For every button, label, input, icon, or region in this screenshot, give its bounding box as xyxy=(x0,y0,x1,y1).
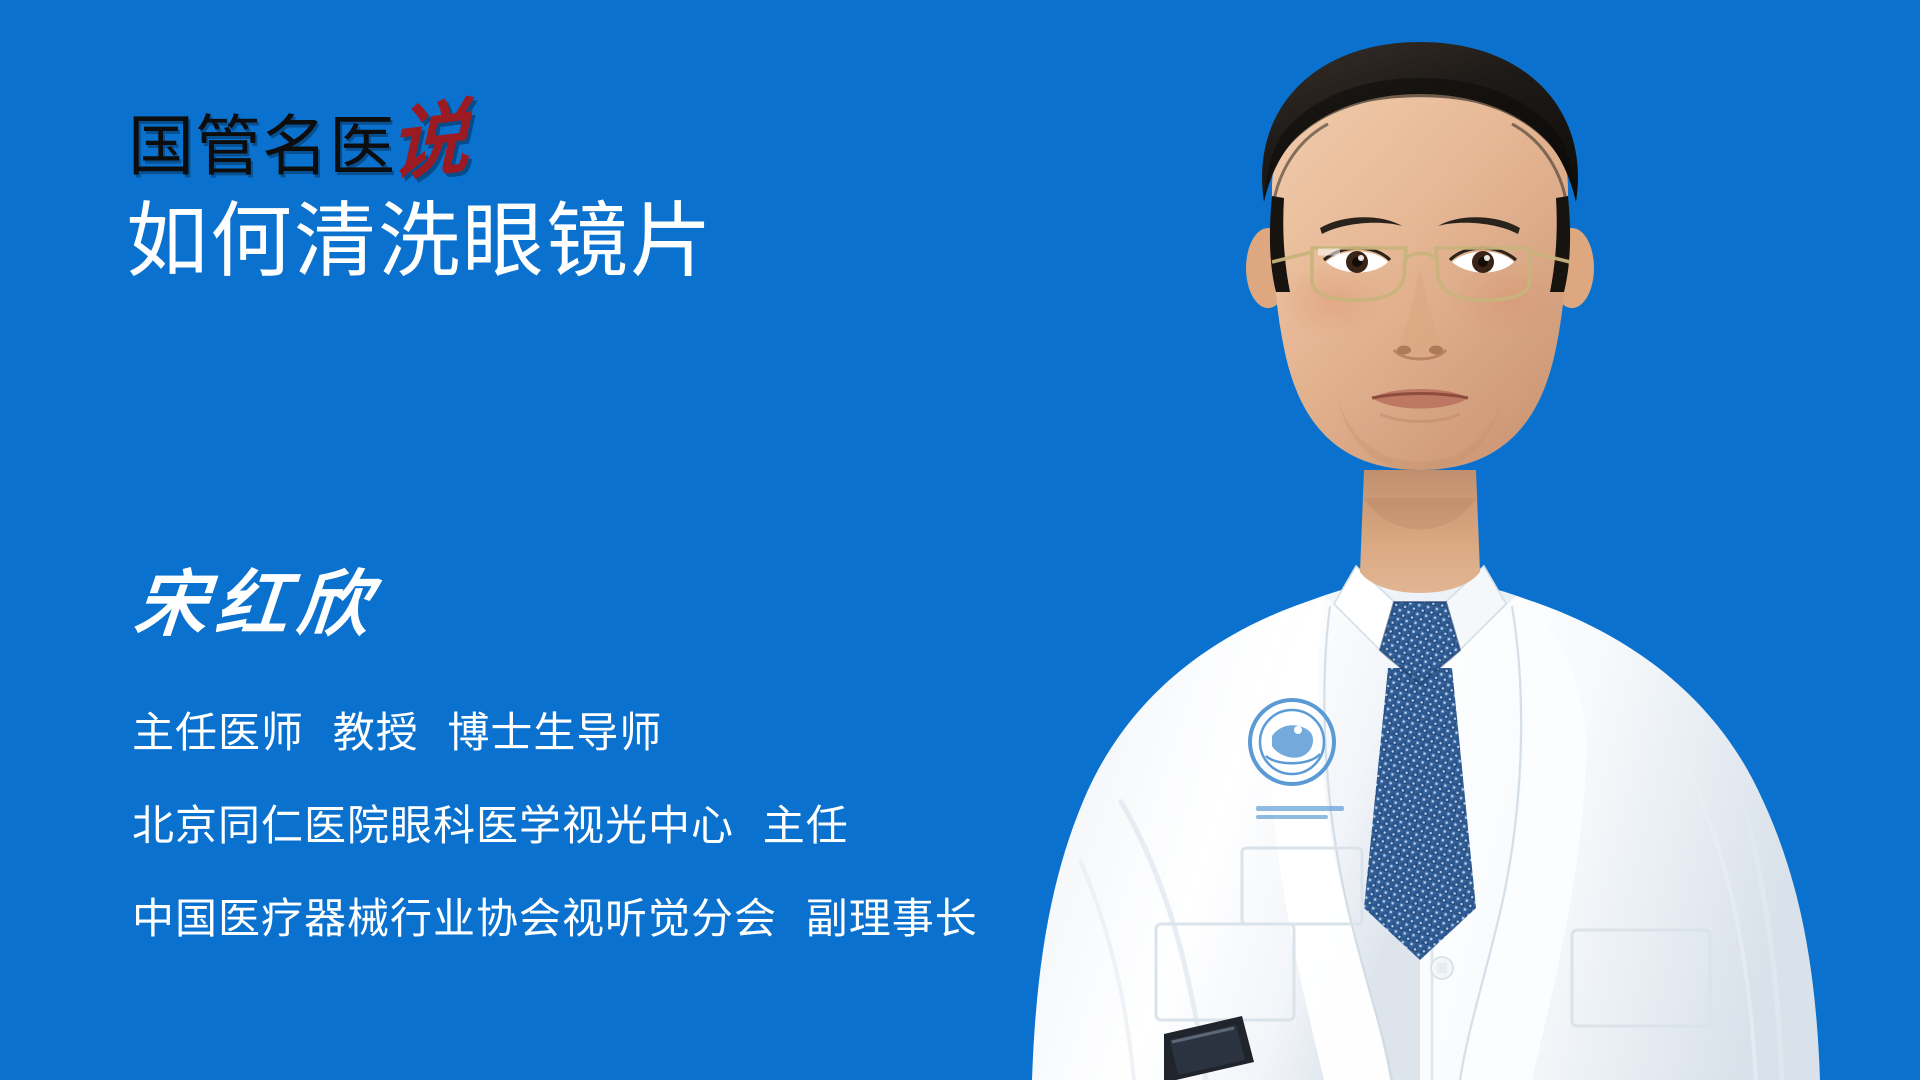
credential-line-1: 主任医师 教授 博士生导师 xyxy=(132,712,1132,754)
hospital-emblem-icon xyxy=(1250,700,1334,784)
page-title: 如何清洗眼镜片 xyxy=(126,196,714,288)
logo-accent-text: 说 xyxy=(389,104,470,180)
eyeglasses-icon xyxy=(1272,248,1570,300)
promo-card: 国管名医 说 如何清洗眼镜片 宋红欣 主任医师 教授 博士生导师 北京同仁医院眼… xyxy=(0,0,1920,1080)
logo-main-text: 国管名医 xyxy=(128,114,396,180)
credential-line-2: 北京同仁医院眼科医学视光中心 主任 xyxy=(132,805,1132,847)
left-eye xyxy=(1324,248,1390,273)
credential-line-3: 中国医疗器械行业协会视听觉分会 副理事长 xyxy=(132,898,1132,940)
doctor-name: 宋红欣 xyxy=(132,568,381,640)
wristwatch-icon xyxy=(1164,1016,1254,1080)
doctor-credentials: 主任医师 教授 博士生导师 北京同仁医院眼科医学视光中心 主任 中国医疗器械行业… xyxy=(132,712,1132,940)
program-logo: 国管名医 说 xyxy=(128,88,470,180)
right-eye xyxy=(1450,248,1516,273)
